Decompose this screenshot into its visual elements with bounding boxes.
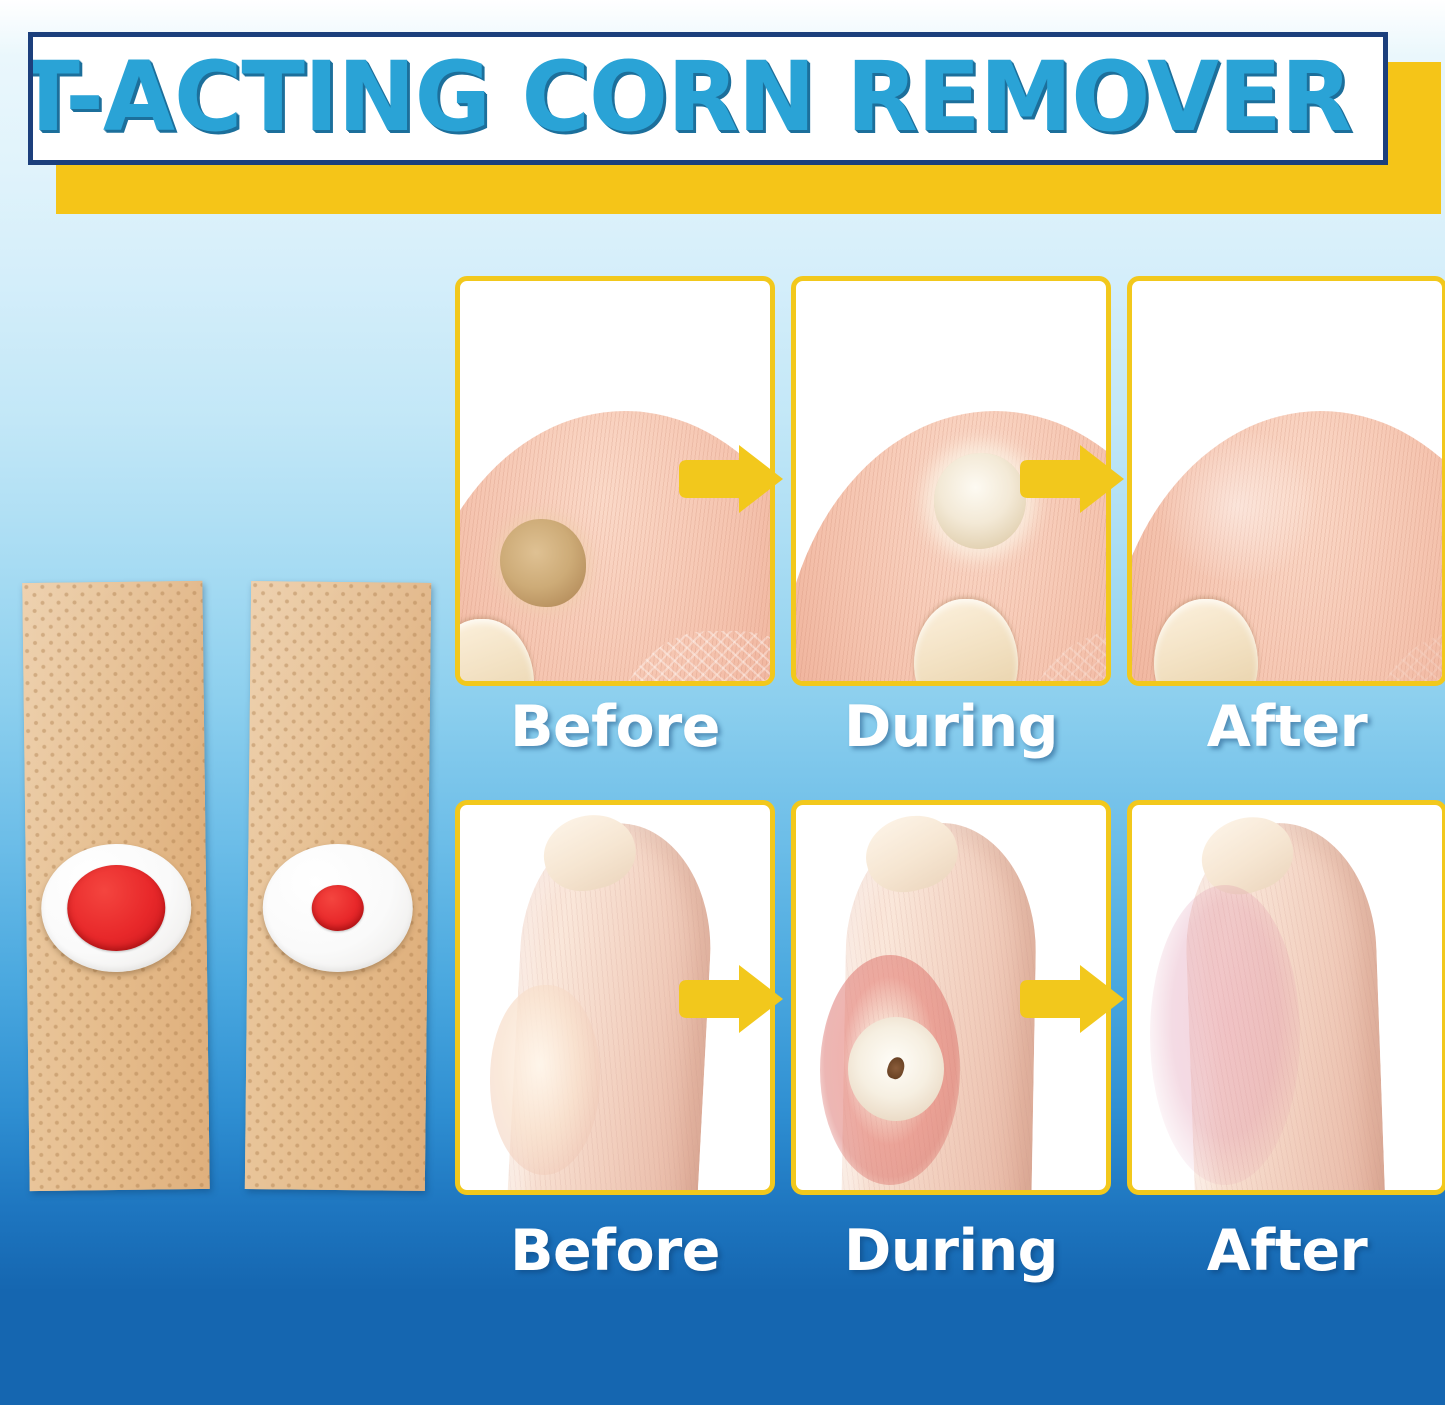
white-pad-large bbox=[40, 843, 192, 973]
arrow-right-icon bbox=[1016, 442, 1128, 516]
foot-comparison-labels: Before During After bbox=[455, 698, 1445, 758]
label-before: Before bbox=[455, 1222, 775, 1282]
red-medicated-disc-large bbox=[67, 864, 166, 951]
title-banner: FAST-ACTING CORN REMOVER PAD bbox=[28, 32, 1418, 187]
bandage-strip-small bbox=[245, 581, 431, 1191]
product-image bbox=[26, 582, 426, 1202]
red-medicated-disc-small bbox=[312, 885, 364, 932]
arrow-right-icon bbox=[675, 442, 787, 516]
arrow-right-icon bbox=[675, 962, 787, 1036]
arrow-right-icon bbox=[1016, 962, 1128, 1036]
dry-cracked-skin-texture bbox=[610, 631, 775, 686]
clear-healed-skin bbox=[1152, 431, 1322, 581]
callus-area bbox=[490, 985, 600, 1175]
hard-corn-lesion bbox=[500, 519, 586, 607]
softened-corn-lesion bbox=[934, 453, 1026, 549]
title-banner-box: FAST-ACTING CORN REMOVER PAD bbox=[28, 32, 1388, 165]
fingernail bbox=[857, 806, 965, 901]
fingernail bbox=[536, 806, 642, 899]
label-after: After bbox=[1127, 1222, 1445, 1282]
healed-smooth-skin bbox=[1150, 885, 1300, 1185]
label-during: During bbox=[791, 1222, 1111, 1282]
label-during: During bbox=[791, 698, 1111, 758]
label-before: Before bbox=[455, 698, 775, 758]
photo-panel-foot-after bbox=[1127, 276, 1445, 686]
label-after: After bbox=[1127, 698, 1445, 758]
white-pad-small bbox=[262, 843, 413, 973]
page-title: FAST-ACTING CORN REMOVER PAD bbox=[28, 49, 1388, 149]
finger-comparison-grid bbox=[455, 800, 1445, 1195]
skin-texture bbox=[1366, 631, 1445, 686]
product-poster: FAST-ACTING CORN REMOVER PAD bbox=[0, 0, 1445, 1405]
foot-comparison-grid bbox=[455, 276, 1445, 686]
finger-comparison-labels: Before During After bbox=[455, 1222, 1445, 1282]
photo-panel-finger-after bbox=[1127, 800, 1445, 1195]
dry-cracked-skin-texture bbox=[1020, 631, 1111, 686]
bandage-strip-large bbox=[22, 581, 209, 1191]
